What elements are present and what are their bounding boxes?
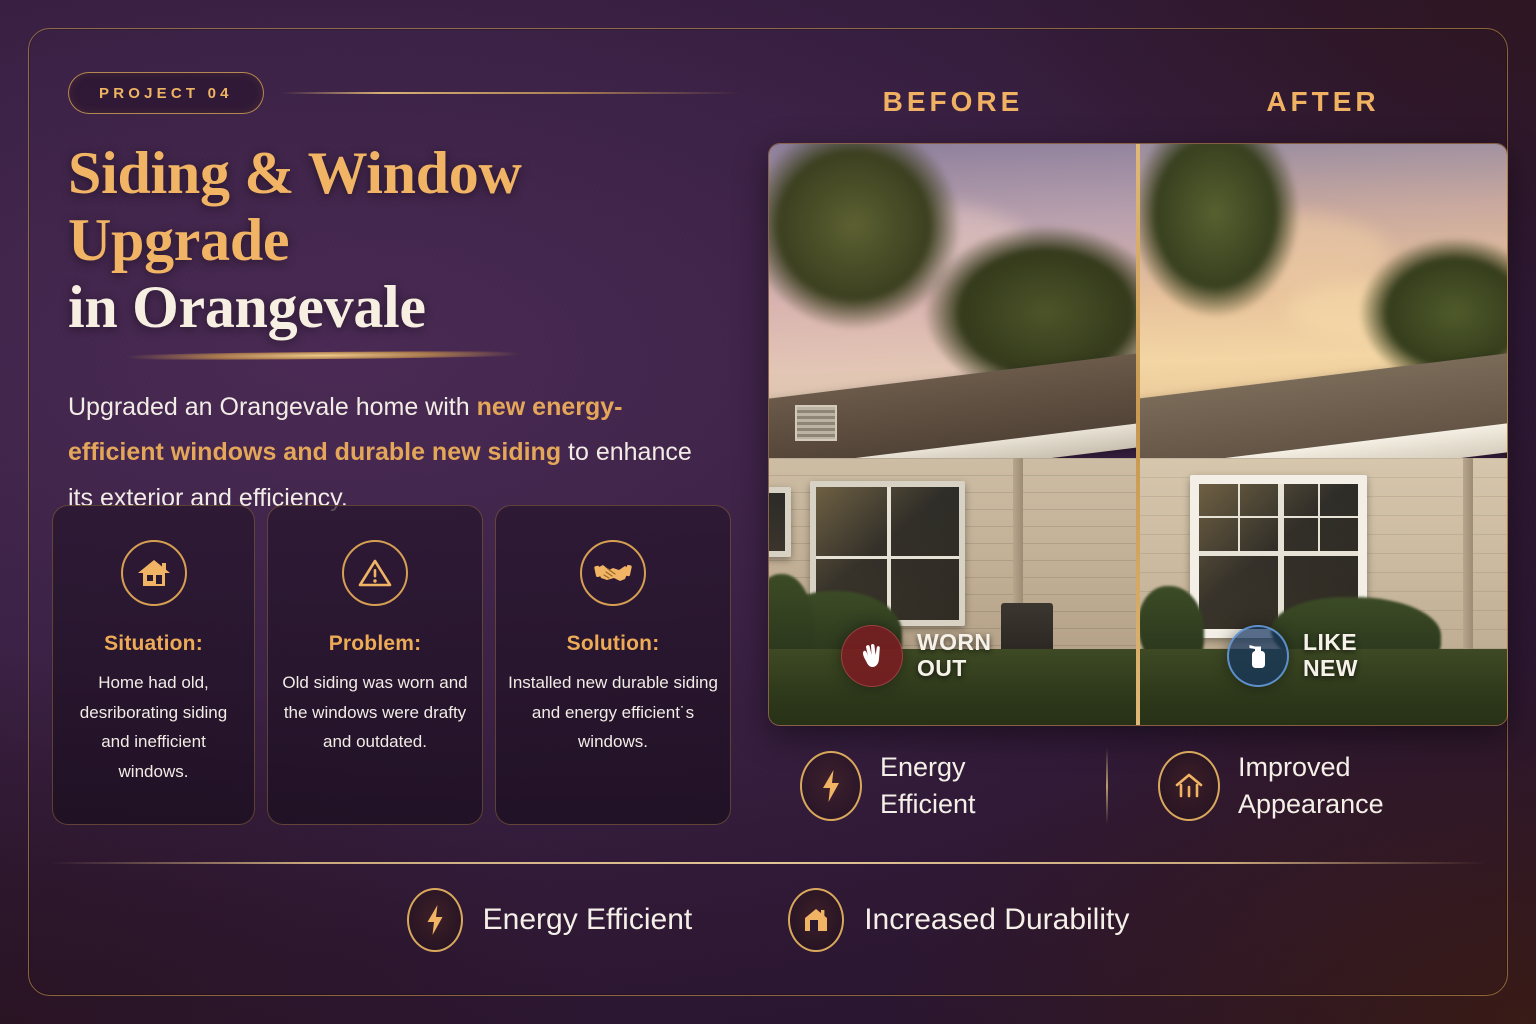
footer-divider-line bbox=[50, 862, 1486, 864]
benefit-line-2: Appearance bbox=[1238, 786, 1384, 823]
before-label: BEFORE bbox=[768, 86, 1138, 118]
badge-line-2: OUT bbox=[917, 656, 991, 682]
lightning-bolt-icon bbox=[800, 751, 862, 821]
benefit-improved-appearance: Improved Appearance bbox=[1158, 749, 1458, 822]
project-badge-row: PROJECT 04 bbox=[68, 72, 740, 114]
poster-canvas: PROJECT 04 Siding & Window Upgrade in Or… bbox=[0, 0, 1536, 1024]
card-heading: Problem: bbox=[329, 632, 422, 656]
house-icon bbox=[121, 540, 187, 606]
benefit-line-2: Efficient bbox=[880, 786, 976, 823]
card-heading: Solution: bbox=[567, 632, 660, 656]
title-line-2: in Orangevale bbox=[68, 274, 740, 341]
title-line-1: Siding & Window Upgrade bbox=[68, 140, 740, 274]
pill-accent-line bbox=[282, 92, 740, 94]
badge-line-1: WORN bbox=[917, 630, 991, 656]
card-situation: Situation: Home had old, desriborating s… bbox=[52, 505, 255, 825]
house-outline-icon bbox=[1158, 751, 1220, 821]
badge-line-1: LIKE bbox=[1303, 630, 1358, 656]
intro-part-1: Upgraded an Orangevale home with bbox=[68, 393, 477, 421]
status-badge-like-new: LIKE NEW bbox=[1227, 625, 1358, 687]
intro-paragraph: Upgraded an Orangevale home with new ene… bbox=[68, 385, 716, 522]
downspout bbox=[1463, 458, 1473, 650]
before-after-labels: BEFORE AFTER bbox=[768, 86, 1508, 118]
footer-item-increased-durability: Increased Durability bbox=[788, 888, 1129, 952]
before-after-divider bbox=[1136, 144, 1140, 725]
card-body: Home had old, desriborating siding and i… bbox=[65, 668, 242, 786]
situation-problem-solution-cards: Situation: Home had old, desriborating s… bbox=[52, 505, 731, 825]
footer-label: Energy Efficient bbox=[483, 903, 693, 937]
after-label: AFTER bbox=[1138, 86, 1508, 118]
gable-vent bbox=[795, 405, 837, 441]
window-small-before bbox=[769, 487, 791, 557]
card-body: Old siding was worn and the windows were… bbox=[280, 668, 470, 757]
tree-canopy bbox=[1138, 144, 1300, 318]
card-body: Installed new durable siding and energy … bbox=[508, 668, 718, 757]
card-problem: Problem: Old siding was worn and the win… bbox=[267, 505, 483, 825]
page-title: Siding & Window Upgrade in Orangevale bbox=[68, 140, 740, 342]
footer-row: Energy Efficient Increased Durability bbox=[0, 888, 1536, 952]
title-underline-swoosh bbox=[68, 349, 578, 360]
left-content-column: PROJECT 04 Siding & Window Upgrade in Or… bbox=[68, 72, 740, 521]
handshake-icon bbox=[580, 540, 646, 606]
hand-icon bbox=[841, 625, 903, 687]
badge-line-2: NEW bbox=[1303, 656, 1358, 682]
warning-triangle-icon bbox=[342, 540, 408, 606]
project-number-label: PROJECT 04 bbox=[99, 85, 233, 102]
house-solid-icon bbox=[788, 888, 844, 952]
benefits-divider bbox=[1106, 748, 1108, 824]
card-solution: Solution: Installed new durable siding a… bbox=[495, 505, 731, 825]
benefit-line-1: Improved bbox=[1238, 749, 1384, 786]
status-badge-worn-out: WORN OUT bbox=[841, 625, 991, 687]
card-heading: Situation: bbox=[104, 632, 203, 656]
lightning-bolt-icon bbox=[407, 888, 463, 952]
benefits-row: Energy Efficient Improved Appearance bbox=[800, 748, 1490, 824]
footer-item-energy-efficient: Energy Efficient bbox=[407, 888, 693, 952]
benefit-energy-efficient: Energy Efficient bbox=[800, 749, 1100, 822]
project-number-pill: PROJECT 04 bbox=[68, 72, 264, 114]
spray-bottle-icon bbox=[1227, 625, 1289, 687]
before-after-photo: WORN OUT bbox=[768, 143, 1508, 726]
before-photo: WORN OUT bbox=[769, 144, 1138, 725]
benefit-line-1: Energy bbox=[880, 749, 976, 786]
footer-label: Increased Durability bbox=[864, 903, 1129, 937]
